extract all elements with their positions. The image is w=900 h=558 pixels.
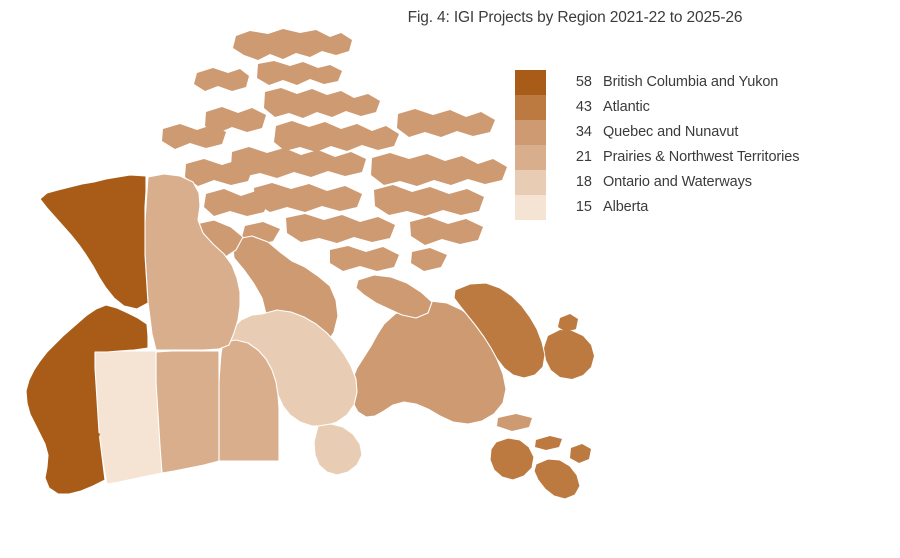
- legend-value-prairies-and-northwest-territories: 21: [546, 145, 603, 170]
- legend-swatch-atlantic: [515, 95, 546, 120]
- region-new-brunswick[interactable]: [490, 438, 534, 480]
- legend-item-british-columbia-and-yukon[interactable]: 58 British Columbia and Yukon: [515, 70, 875, 95]
- legend-item-atlantic[interactable]: 43 Atlantic: [515, 95, 875, 120]
- legend-item-quebec-and-nunavut[interactable]: 34 Quebec and Nunavut: [515, 120, 875, 145]
- legend-label-british-columbia-and-yukon: British Columbia and Yukon: [603, 70, 778, 95]
- legend-swatch-alberta: [515, 195, 546, 220]
- legend-label-atlantic: Atlantic: [603, 95, 650, 120]
- region-yukon[interactable]: [40, 175, 148, 309]
- legend-value-alberta: 15: [546, 195, 603, 220]
- region-prince-edward-island[interactable]: [535, 436, 562, 450]
- legend-swatch-ontario-and-waterways: [515, 170, 546, 195]
- region-alberta[interactable]: [95, 351, 162, 484]
- legend-label-alberta: Alberta: [603, 195, 648, 220]
- legend-label-ontario-and-waterways: Ontario and Waterways: [603, 170, 752, 195]
- figure-root: Fig. 4: IGI Projects by Region 2021-22 t…: [0, 0, 900, 558]
- legend-value-atlantic: 43: [546, 95, 603, 120]
- legend-item-alberta[interactable]: 15 Alberta: [515, 195, 875, 220]
- legend-label-quebec-and-nunavut: Quebec and Nunavut: [603, 120, 738, 145]
- legend-value-ontario-and-waterways: 18: [546, 170, 603, 195]
- legend-value-british-columbia-and-yukon: 58: [546, 70, 603, 95]
- region-saskatchewan[interactable]: [156, 351, 219, 473]
- legend-label-prairies-and-northwest-territories: Prairies & Northwest Territories: [603, 145, 799, 170]
- legend-swatch-prairies-and-northwest-territories: [515, 145, 546, 170]
- legend-swatch-quebec-and-nunavut: [515, 120, 546, 145]
- legend-value-quebec-and-nunavut: 34: [546, 120, 603, 145]
- legend-swatch-british-columbia-and-yukon: [515, 70, 546, 95]
- region-nova-scotia[interactable]: [534, 444, 591, 499]
- legend-item-prairies-and-northwest-territories[interactable]: 21 Prairies & Northwest Territories: [515, 145, 875, 170]
- legend-item-ontario-and-waterways[interactable]: 18 Ontario and Waterways: [515, 170, 875, 195]
- legend: 58 British Columbia and Yukon 43 Atlanti…: [515, 70, 875, 220]
